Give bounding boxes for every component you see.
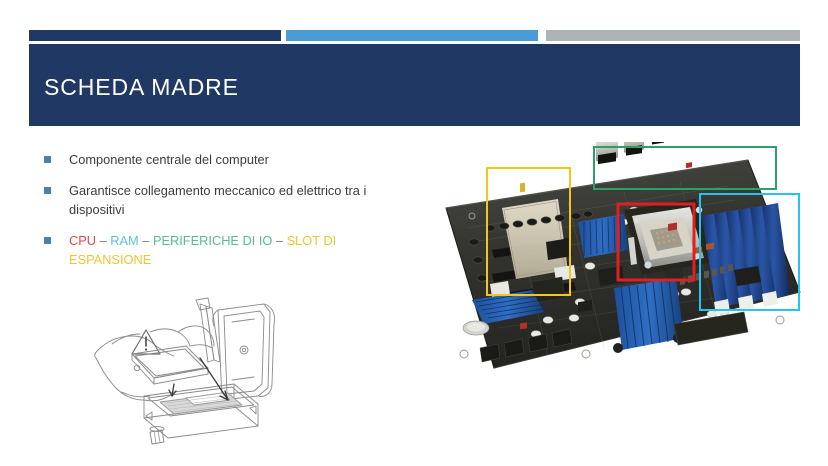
component-separator: – <box>96 233 110 248</box>
page-title: SCHEDA MADRE <box>44 74 239 101</box>
list-item: Componente centrale del computer <box>44 150 416 169</box>
bullet-text: Garantisce collegamento meccanico ed ele… <box>69 181 416 219</box>
slide: SCHEDA MADRE Componente centrale del com… <box>0 0 828 466</box>
list-item: Garantisce collegamento meccanico ed ele… <box>44 181 416 219</box>
components-line: CPU – RAM – PERIFERICHE DI IO – SLOT DI … <box>69 231 416 269</box>
bullet-square-icon <box>44 237 51 244</box>
accent-bar-gray <box>546 30 800 41</box>
bullet-list: Componente centrale del computer Garanti… <box>44 150 416 281</box>
accent-bar-navy <box>29 30 281 41</box>
accent-bar-blue <box>286 30 538 41</box>
component-cpu: CPU <box>69 233 96 248</box>
bullet-square-icon <box>44 156 51 163</box>
component-ram: RAM <box>110 233 138 248</box>
title-band: SCHEDA MADRE <box>29 44 800 126</box>
component-periferiche-di-io: PERIFERICHE DI IO <box>153 233 272 248</box>
list-item-components: CPU – RAM – PERIFERICHE DI IO – SLOT DI … <box>44 231 416 269</box>
bullet-text: Componente centrale del computer <box>69 150 416 169</box>
cpu-socket-drawing <box>82 292 302 452</box>
motherboard-image <box>428 142 802 378</box>
accent-bars <box>29 30 800 41</box>
bullet-square-icon <box>44 187 51 194</box>
component-separator: – <box>272 233 286 248</box>
component-separator: – <box>139 233 153 248</box>
